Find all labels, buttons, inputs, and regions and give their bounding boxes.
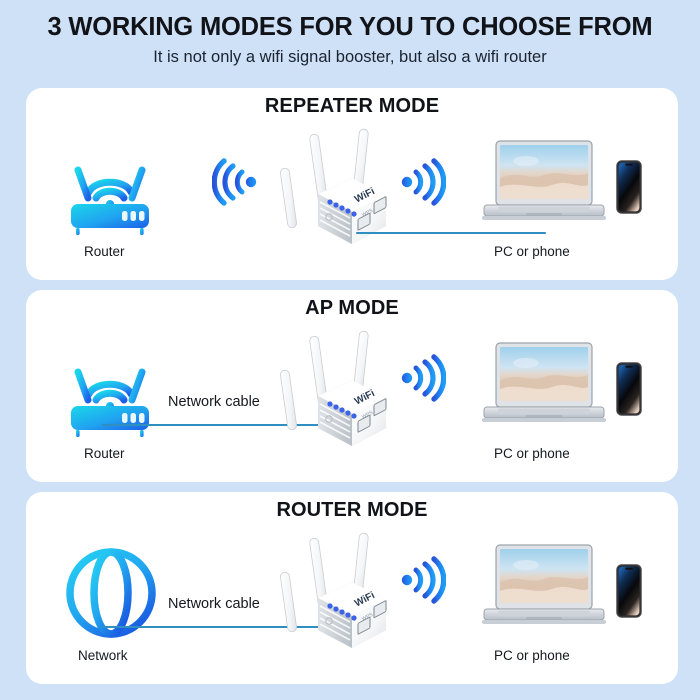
target-label-router: PC or phone	[494, 648, 570, 663]
cable-label-ap: Network cable	[168, 394, 260, 410]
target-label-repeater: PC or phone	[494, 244, 570, 259]
wifi-extender-device	[274, 520, 394, 655]
router-icon	[62, 150, 158, 236]
source-label-repeater: Router	[84, 244, 125, 259]
wifi-extender-device	[274, 116, 394, 251]
panel-router-stage: Network Network cable PC or phone	[26, 526, 678, 684]
wifi-wave-icon-right	[398, 556, 446, 604]
panel-ap-stage: Router Network cable PC or phone	[26, 324, 678, 482]
panel-title-ap: AP MODE	[26, 297, 678, 320]
page-header: 3 WORKING MODES FOR YOU TO CHOOSE FROM I…	[0, 0, 700, 66]
cable-label-router: Network cable	[168, 596, 260, 612]
page-subtitle: It is not only a wifi signal booster, bu…	[0, 48, 700, 66]
panel-repeater-mode: REPEATER MODE Router PC or pho	[26, 88, 678, 280]
target-label-ap: PC or phone	[494, 446, 570, 461]
laptop-icon	[482, 341, 606, 427]
page-title: 3 WORKING MODES FOR YOU TO CHOOSE FROM	[0, 14, 700, 41]
panel-router-mode: ROUTER MODE Network Network cable PC or …	[26, 492, 678, 684]
source-label-router: Network	[78, 648, 128, 663]
laptop-icon	[482, 543, 606, 629]
wifi-wave-icon-left	[212, 158, 260, 206]
phone-icon	[616, 160, 642, 214]
panel-repeater-stage: Router PC or phone	[26, 122, 678, 280]
modes-panel-list: REPEATER MODE Router PC or pho	[26, 88, 678, 694]
panel-title-router: ROUTER MODE	[26, 499, 678, 522]
wifi-wave-icon-right	[398, 158, 446, 206]
panel-ap-mode: AP MODE Router Network cable PC or phone	[26, 290, 678, 482]
panel-title-repeater: REPEATER MODE	[26, 95, 678, 118]
phone-icon	[616, 564, 642, 618]
wifi-wave-icon-right	[398, 354, 446, 402]
connection-line-repeater	[356, 232, 546, 234]
wifi-extender-device	[274, 318, 394, 453]
source-label-ap: Router	[84, 446, 125, 461]
laptop-icon	[482, 139, 606, 225]
phone-icon	[616, 362, 642, 416]
